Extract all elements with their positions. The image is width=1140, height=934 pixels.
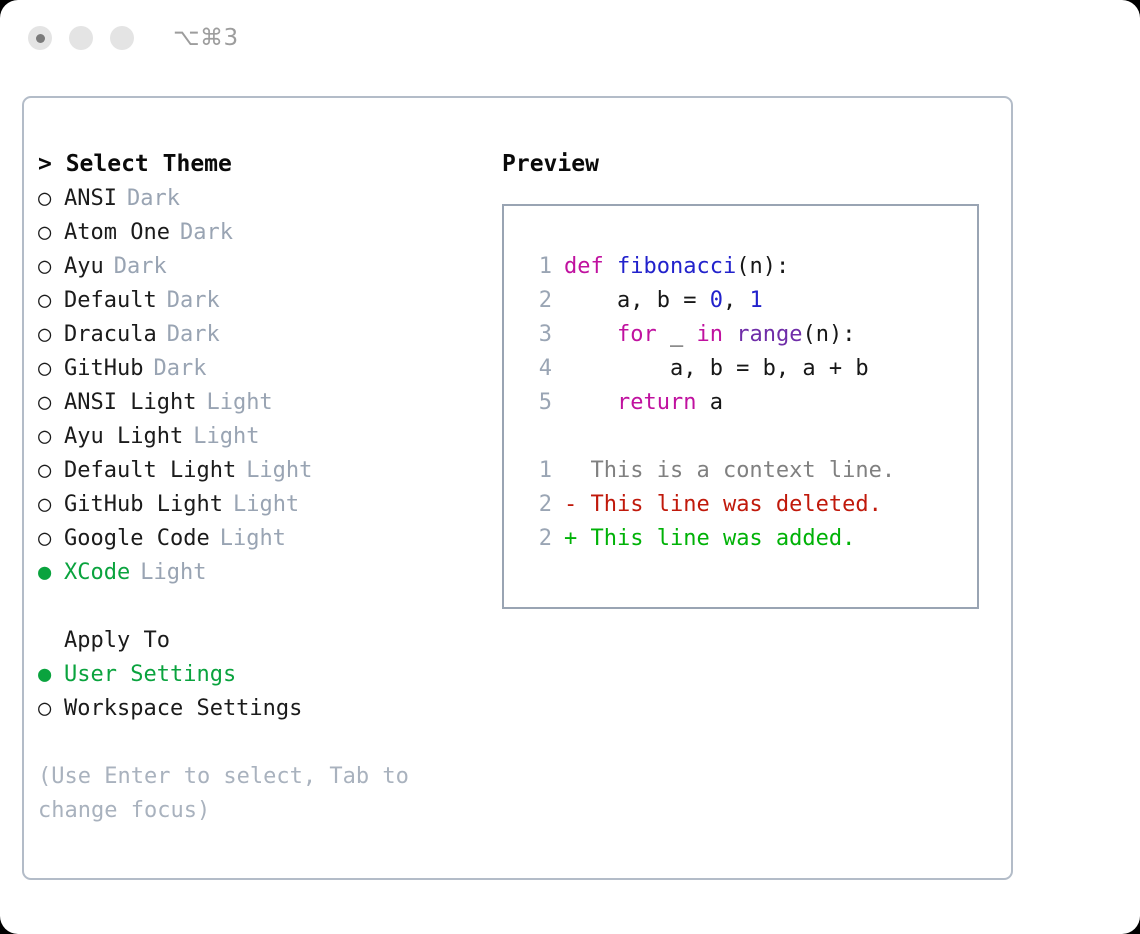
line-number: 1 [518,454,552,488]
preview-column: Preview 1def fibonacci(n):2 a, b = 0, 13… [502,146,1002,609]
code-token: ( [736,254,749,279]
traffic-light-dot-icon [36,34,45,43]
line-number: 2 [518,488,552,522]
theme-variant-badge: Dark [114,250,167,284]
theme-list-item[interactable]: ○ANSI LightLight [38,386,488,420]
theme-name-label: Ayu Light [64,420,183,454]
code-token: _ [657,322,697,347]
radio-unselected-icon: ○ [38,284,64,318]
theme-name-label: XCode [64,556,130,590]
radio-unselected-icon: ○ [38,386,64,420]
theme-name-label: Ayu [64,250,104,284]
code-token: for [617,322,657,347]
theme-variant-badge: Dark [167,284,220,318]
apply-to-option[interactable]: ○Workspace Settings [38,692,488,726]
theme-variant-badge: Light [220,522,286,556]
code-line-content: for _ in range(n): [564,318,855,352]
code-line: 4 a, b = b, a + b [518,352,977,386]
theme-variant-badge: Light [246,454,312,488]
theme-list-item[interactable]: ○Google CodeLight [38,522,488,556]
list-spacer [38,590,488,624]
radio-unselected-icon: ○ [38,318,64,352]
preview-heading: Preview [502,146,1002,182]
code-line: 1def fibonacci(n): [518,250,977,284]
line-number: 4 [518,352,552,386]
theme-name-label: Default Light [64,454,236,488]
diff-text: This line was added. [577,522,855,556]
theme-variant-badge: Dark [167,318,220,352]
main-panel: > Select Theme ○ANSIDark○Atom OneDark○Ay… [22,96,1013,880]
theme-list-item[interactable]: ○Atom OneDark [38,216,488,250]
title-bar: ⌥⌘3 [0,0,1140,76]
diff-sign: + [564,522,577,556]
diff-line: 1 This is a context line. [518,454,977,488]
app-window: ⌥⌘3 > Select Theme ○ANSIDark○Atom OneDar… [0,0,1140,934]
code-token: , [723,288,750,313]
code-token [723,322,736,347]
diff-text: This line was deleted. [577,488,882,522]
theme-name-label: ANSI [64,182,117,216]
code-token [564,322,617,347]
line-number: 3 [518,318,552,352]
code-diff-gap [518,420,977,454]
theme-list-item[interactable]: ○GitHub LightLight [38,488,488,522]
theme-list-item[interactable]: ○Ayu LightLight [38,420,488,454]
code-token: ): [763,254,790,279]
code-token: a [696,390,723,415]
code-token: a, b = [564,288,710,313]
code-line-content: a, b = 0, 1 [564,284,763,318]
diff-line: 2- This line was deleted. [518,488,977,522]
theme-list-item[interactable]: ○AyuDark [38,250,488,284]
radio-unselected-icon: ○ [38,352,64,386]
radio-selected-icon: ● [38,556,64,590]
theme-variant-badge: Dark [153,352,206,386]
line-number: 1 [518,250,552,284]
radio-unselected-icon: ○ [38,692,64,726]
line-number: 2 [518,284,552,318]
diff-sign [564,454,577,488]
line-number: 5 [518,386,552,420]
traffic-light-2-icon[interactable] [69,26,93,50]
select-theme-heading-label: > Select Theme [38,146,232,182]
code-token: def [564,254,617,279]
radio-unselected-icon: ○ [38,454,64,488]
theme-list: ○ANSIDark○Atom OneDark○AyuDark○DefaultDa… [38,182,488,590]
keyboard-hint: (Use Enter to select, Tab to change focu… [38,760,448,828]
radio-selected-icon: ● [38,658,64,692]
radio-unselected-icon: ○ [38,250,64,284]
radio-unselected-icon: ○ [38,182,64,216]
theme-variant-badge: Light [193,420,259,454]
theme-name-label: GitHub [64,352,143,386]
apply-to-option-label: Workspace Settings [64,692,302,726]
code-line: 5 return a [518,386,977,420]
code-token [564,390,617,415]
code-line: 2 a, b = 0, 1 [518,284,977,318]
select-theme-heading: > Select Theme [38,146,488,182]
theme-variant-badge: Light [140,556,206,590]
theme-list-item[interactable]: ○GitHubDark [38,352,488,386]
theme-variant-badge: Dark [127,182,180,216]
theme-list-item[interactable]: ○DraculaDark [38,318,488,352]
theme-list-item[interactable]: ○Default LightLight [38,454,488,488]
code-line-content: a, b = b, a + b [564,352,869,386]
traffic-light-active-icon[interactable] [28,26,52,50]
radio-unselected-icon: ○ [38,488,64,522]
diff-text: This is a context line. [577,454,895,488]
apply-to-options: ●User Settings○Workspace Settings [38,658,488,726]
code-line: 3 for _ in range(n): [518,318,977,352]
preview-box: 1def fibonacci(n):2 a, b = 0, 13 for _ i… [502,204,979,609]
theme-name-label: ANSI Light [64,386,196,420]
theme-variant-badge: Light [233,488,299,522]
apply-to-heading: Apply To [38,624,488,658]
apply-to-option-label: User Settings [64,658,236,692]
code-token: return [617,390,696,415]
theme-name-label: Google Code [64,522,210,556]
keyboard-shortcut-label: ⌥⌘3 [173,25,239,51]
radio-unselected-icon: ○ [38,420,64,454]
code-token: a, b = b, a + b [564,356,869,381]
theme-name-label: Default [64,284,157,318]
line-number: 2 [518,522,552,556]
theme-name-label: GitHub Light [64,488,223,522]
code-token: n [749,254,762,279]
theme-list-item[interactable]: ●XCodeLight [38,556,488,590]
diff-sample: 1 This is a context line.2- This line wa… [518,454,977,556]
code-token: fibonacci [617,254,736,279]
radio-unselected-icon: ○ [38,522,64,556]
code-token: (n): [802,322,855,347]
diff-line: 2+ This line was added. [518,522,977,556]
code-sample: 1def fibonacci(n):2 a, b = 0, 13 for _ i… [518,250,977,420]
code-token: 0 [710,288,723,313]
radio-unselected-icon: ○ [38,216,64,250]
theme-name-label: Dracula [64,318,157,352]
theme-name-label: Atom One [64,216,170,250]
code-token: range [736,322,802,347]
theme-variant-badge: Light [206,386,272,420]
theme-list-item[interactable]: ○DefaultDark [38,284,488,318]
diff-sign: - [564,488,577,522]
code-token: in [696,322,723,347]
theme-list-item[interactable]: ○ANSIDark [38,182,488,216]
theme-selection-column: > Select Theme ○ANSIDark○Atom OneDark○Ay… [38,146,488,828]
code-token: 1 [749,288,762,313]
hint-spacer [38,726,488,760]
apply-to-option[interactable]: ●User Settings [38,658,488,692]
theme-variant-badge: Dark [180,216,233,250]
code-line-content: return a [564,386,723,420]
code-line-content: def fibonacci(n): [564,250,789,284]
traffic-light-3-icon[interactable] [110,26,134,50]
